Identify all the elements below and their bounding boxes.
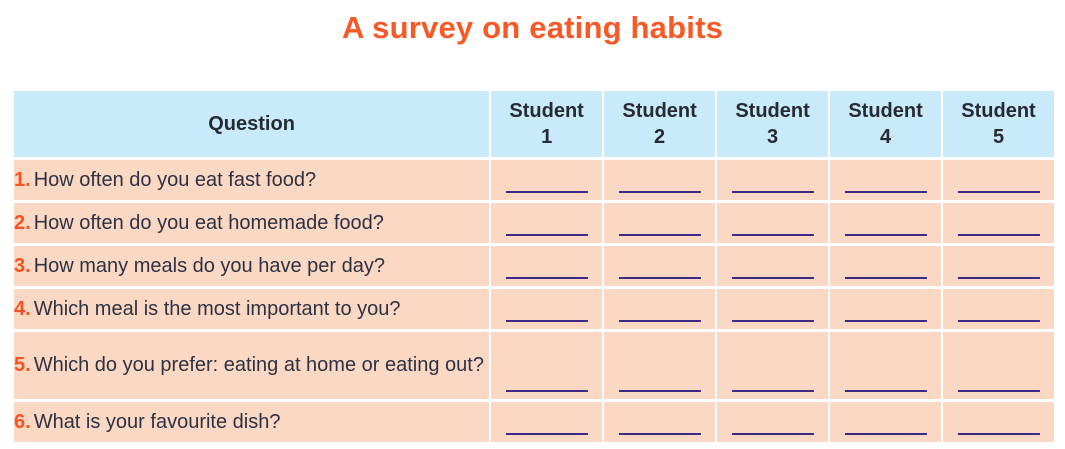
answer-cell-student-5[interactable] — [943, 160, 1054, 200]
answer-cell-student-4[interactable] — [830, 332, 941, 399]
column-header-student-4: Student 4 — [830, 91, 941, 157]
student-number: 1 — [491, 124, 602, 150]
question-cell: 1.How often do you eat fast food? — [14, 160, 489, 200]
answer-cell-student-5[interactable] — [943, 289, 1054, 329]
student-label: Student — [717, 98, 828, 124]
student-number: 3 — [717, 124, 828, 150]
table-row: 5.Which do you prefer: eating at home or… — [14, 332, 1054, 399]
question-text: Which do you prefer: eating at home or e… — [34, 354, 484, 376]
table-row: 2.How often do you eat homemade food? — [14, 203, 1054, 243]
question-cell: 2.How often do you eat homemade food? — [14, 203, 489, 243]
student-number: 5 — [943, 124, 1054, 150]
answer-cell-student-4[interactable] — [830, 289, 941, 329]
answer-blank-line[interactable] — [957, 390, 1039, 392]
question-number: 1. — [14, 169, 31, 191]
answer-blank-line[interactable] — [619, 234, 701, 236]
answer-cell-student-3[interactable] — [717, 332, 828, 399]
answer-cell-student-1[interactable] — [491, 246, 602, 286]
table-header: Question Student 1 Student 2 Student 3 S… — [14, 91, 1054, 157]
table-row: 1.How often do you eat fast food? — [14, 160, 1054, 200]
answer-cell-student-4[interactable] — [830, 203, 941, 243]
answer-cell-student-5[interactable] — [943, 246, 1054, 286]
answer-blank-line[interactable] — [506, 390, 588, 392]
answer-blank-line[interactable] — [844, 390, 926, 392]
answer-cell-student-3[interactable] — [717, 246, 828, 286]
answer-blank-line[interactable] — [957, 191, 1039, 193]
question-number: 4. — [14, 298, 31, 320]
question-cell: 3.How many meals do you have per day? — [14, 246, 489, 286]
answer-blank-line[interactable] — [506, 277, 588, 279]
answer-cell-student-4[interactable] — [830, 402, 941, 442]
question-text: Which meal is the most important to you? — [34, 298, 401, 320]
page-title: A survey on eating habits — [0, 6, 1065, 50]
answer-blank-line[interactable] — [619, 320, 701, 322]
student-label: Student — [604, 98, 715, 124]
answer-blank-line[interactable] — [732, 390, 814, 392]
answer-cell-student-2[interactable] — [604, 160, 715, 200]
question-number: 6. — [14, 411, 31, 433]
question-text: What is your favourite dish? — [34, 411, 281, 433]
question-text: How often do you eat fast food? — [34, 169, 316, 191]
answer-cell-student-5[interactable] — [943, 203, 1054, 243]
question-number: 3. — [14, 255, 31, 277]
answer-blank-line[interactable] — [844, 433, 926, 435]
answer-blank-line[interactable] — [844, 320, 926, 322]
answer-blank-line[interactable] — [732, 191, 814, 193]
answer-cell-student-2[interactable] — [604, 332, 715, 399]
answer-cell-student-2[interactable] — [604, 203, 715, 243]
column-header-student-3: Student 3 — [717, 91, 828, 157]
answer-blank-line[interactable] — [619, 191, 701, 193]
answer-blank-line[interactable] — [506, 320, 588, 322]
column-header-student-5: Student 5 — [943, 91, 1054, 157]
answer-cell-student-2[interactable] — [604, 402, 715, 442]
column-header-student-1: Student 1 — [491, 91, 602, 157]
table-body: 1.How often do you eat fast food? 2.How … — [14, 160, 1054, 442]
answer-blank-line[interactable] — [506, 433, 588, 435]
answer-cell-student-4[interactable] — [830, 160, 941, 200]
student-label: Student — [943, 98, 1054, 124]
survey-table: Question Student 1 Student 2 Student 3 S… — [12, 88, 1056, 445]
student-label: Student — [491, 98, 602, 124]
answer-blank-line[interactable] — [506, 234, 588, 236]
answer-blank-line[interactable] — [619, 433, 701, 435]
answer-blank-line[interactable] — [732, 234, 814, 236]
answer-cell-student-2[interactable] — [604, 246, 715, 286]
column-header-question: Question — [14, 91, 489, 157]
table-row: 3.How many meals do you have per day? — [14, 246, 1054, 286]
answer-blank-line[interactable] — [957, 320, 1039, 322]
answer-blank-line[interactable] — [844, 191, 926, 193]
answer-blank-line[interactable] — [506, 191, 588, 193]
answer-cell-student-5[interactable] — [943, 402, 1054, 442]
answer-cell-student-1[interactable] — [491, 402, 602, 442]
answer-cell-student-1[interactable] — [491, 160, 602, 200]
header-row: Question Student 1 Student 2 Student 3 S… — [14, 91, 1054, 157]
student-number: 4 — [830, 124, 941, 150]
question-cell: 6.What is your favourite dish? — [14, 402, 489, 442]
answer-cell-student-1[interactable] — [491, 203, 602, 243]
question-number: 5. — [14, 354, 31, 376]
table-row: 4.Which meal is the most important to yo… — [14, 289, 1054, 329]
question-text: How often do you eat homemade food? — [34, 212, 384, 234]
student-label: Student — [830, 98, 941, 124]
column-header-student-2: Student 2 — [604, 91, 715, 157]
answer-cell-student-3[interactable] — [717, 289, 828, 329]
answer-blank-line[interactable] — [844, 234, 926, 236]
answer-blank-line[interactable] — [844, 277, 926, 279]
answer-cell-student-3[interactable] — [717, 160, 828, 200]
question-cell: 5.Which do you prefer: eating at home or… — [14, 332, 489, 399]
answer-blank-line[interactable] — [732, 320, 814, 322]
answer-blank-line[interactable] — [732, 277, 814, 279]
answer-cell-student-3[interactable] — [717, 203, 828, 243]
answer-cell-student-2[interactable] — [604, 289, 715, 329]
answer-cell-student-4[interactable] — [830, 246, 941, 286]
answer-cell-student-5[interactable] — [943, 332, 1054, 399]
answer-blank-line[interactable] — [619, 390, 701, 392]
survey-page: A survey on eating habits Question Stude… — [0, 0, 1065, 449]
answer-blank-line[interactable] — [957, 234, 1039, 236]
answer-blank-line[interactable] — [619, 277, 701, 279]
answer-blank-line[interactable] — [957, 433, 1039, 435]
answer-blank-line[interactable] — [957, 277, 1039, 279]
question-text: How many meals do you have per day? — [34, 255, 385, 277]
answer-cell-student-3[interactable] — [717, 402, 828, 442]
question-cell: 4.Which meal is the most important to yo… — [14, 289, 489, 329]
answer-cell-student-1[interactable] — [491, 289, 602, 329]
answer-cell-student-1[interactable] — [491, 332, 602, 399]
question-number: 2. — [14, 212, 31, 234]
student-number: 2 — [604, 124, 715, 150]
table-row: 6.What is your favourite dish? — [14, 402, 1054, 442]
answer-blank-line[interactable] — [732, 433, 814, 435]
